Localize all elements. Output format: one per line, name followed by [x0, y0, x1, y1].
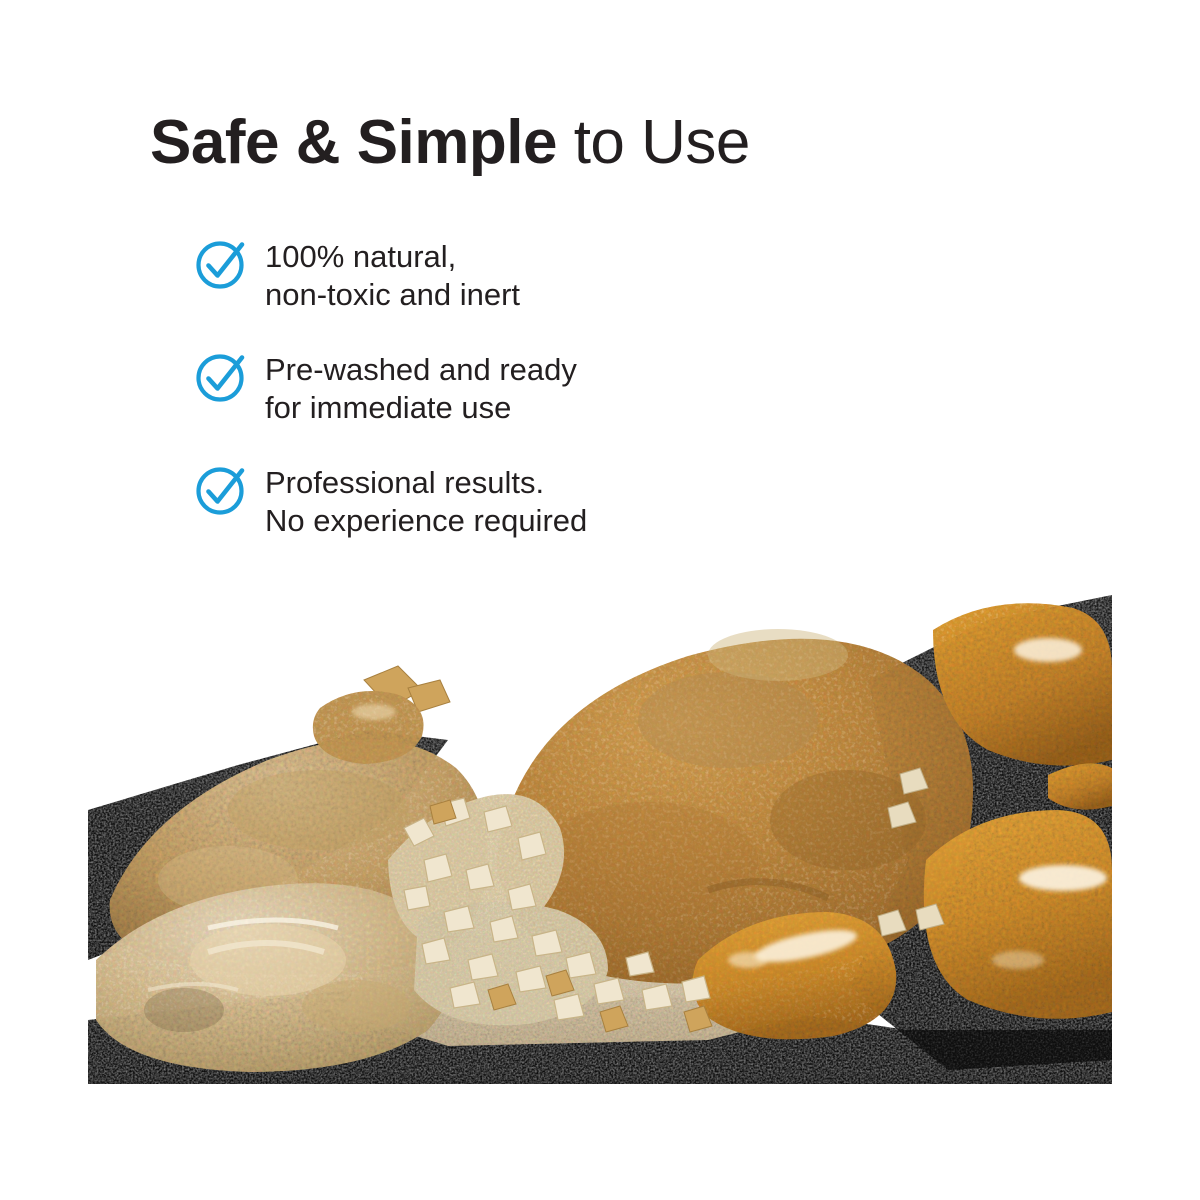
list-item-label: Pre-washed and ready for immediate use	[265, 349, 577, 427]
list-item-line-1: Pre-washed and ready	[265, 351, 577, 389]
list-item: Pre-washed and ready for immediate use	[195, 349, 815, 427]
list-item-line-1: 100% natural,	[265, 238, 520, 276]
page-title: Safe & Simple to Use	[150, 107, 750, 179]
list-item: 100% natural, non-toxic and inert	[195, 236, 815, 314]
check-circle-icon	[195, 238, 247, 290]
headline-bold: Safe & Simple	[150, 108, 557, 177]
check-circle-icon	[195, 351, 247, 403]
benefits-list: 100% natural, non-toxic and inert Pre-wa…	[195, 236, 815, 540]
list-item-line-2: non-toxic and inert	[265, 276, 520, 314]
list-item-label: Professional results. No experience requ…	[265, 462, 587, 540]
list-item-line-2: No experience required	[265, 502, 587, 540]
promo-panel: Safe & Simple to Use 100% natural, non-t…	[0, 0, 1200, 1200]
list-item-line-2: for immediate use	[265, 389, 577, 427]
headline-light: to Use	[557, 108, 750, 177]
list-item-label: 100% natural, non-toxic and inert	[265, 236, 520, 314]
decorative-river-rock-photo	[88, 560, 1112, 1084]
list-item: Professional results. No experience requ…	[195, 462, 815, 540]
check-circle-icon	[195, 464, 247, 516]
list-item-line-1: Professional results.	[265, 464, 587, 502]
